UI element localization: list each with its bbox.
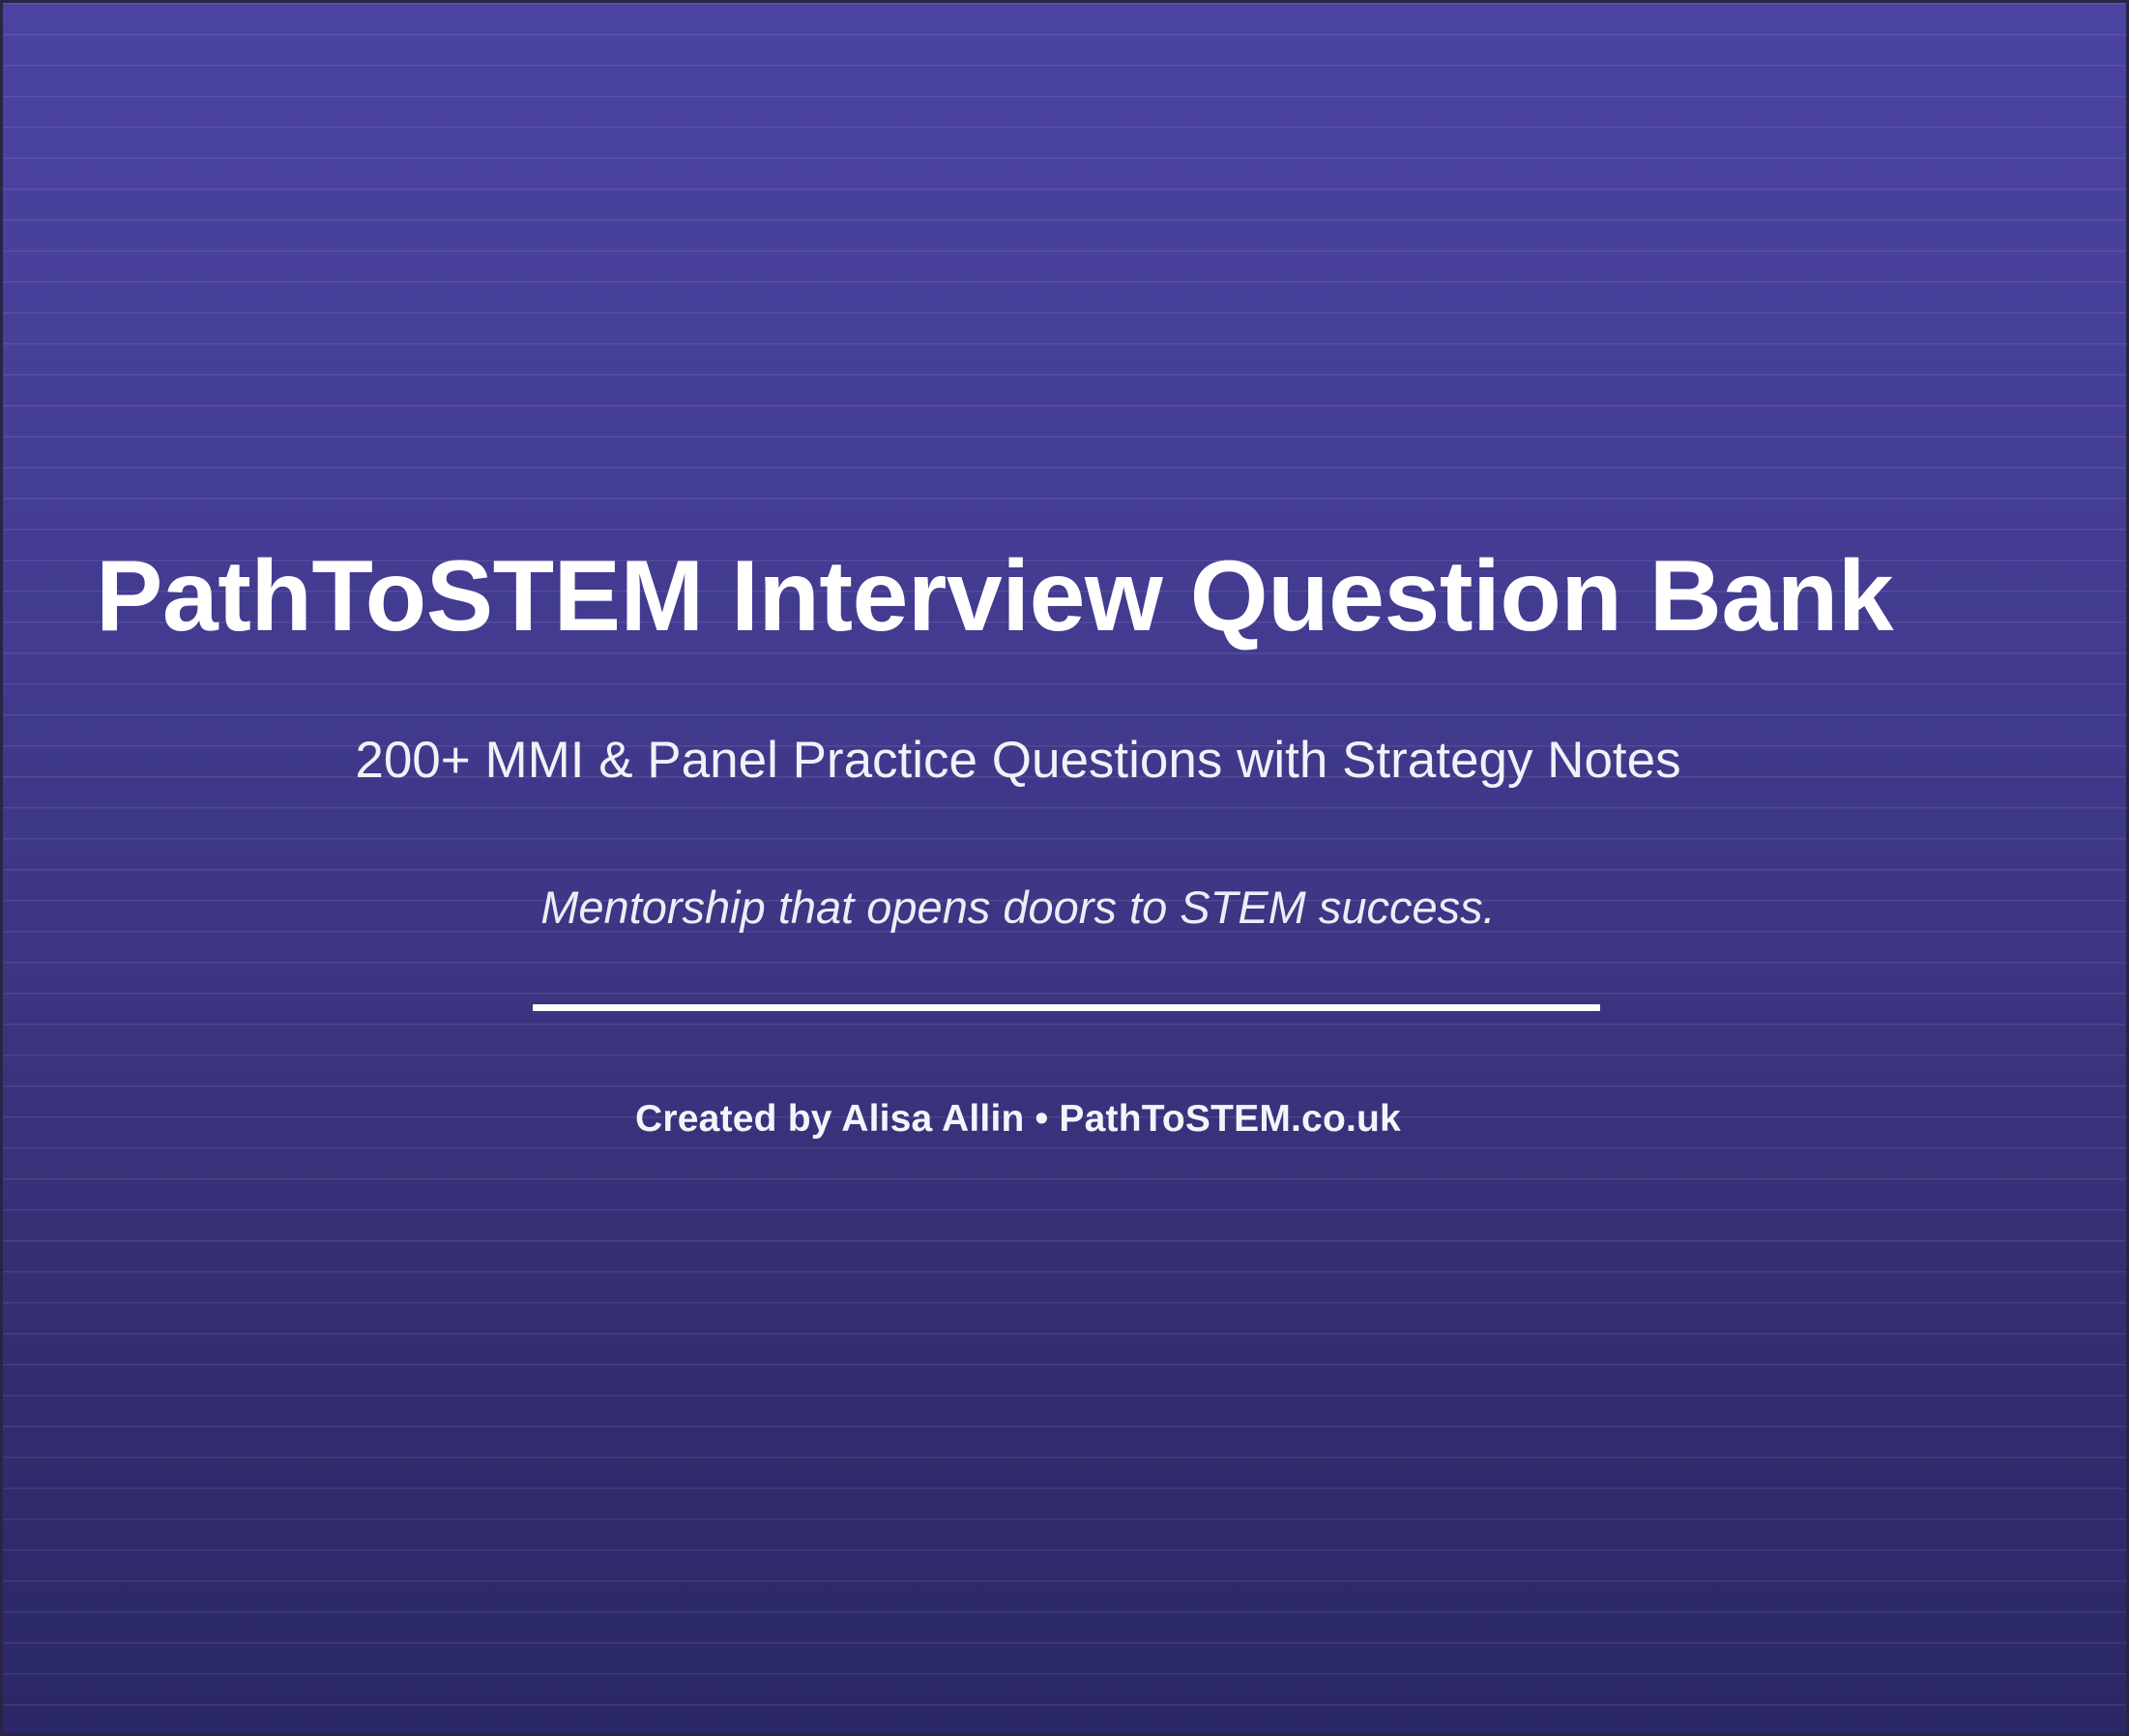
slide-title: PathToSTEM Interview Question Bank xyxy=(96,540,2039,652)
background-vignette xyxy=(3,3,2126,1733)
slide-byline: Created by Alisa Allin • PathToSTEM.co.u… xyxy=(3,1097,2033,1143)
divider-rule xyxy=(533,1004,1600,1011)
title-slide: PathToSTEM Interview Question Bank 200+ … xyxy=(0,0,2129,1736)
slide-tagline: Mentorship that opens doors to STEM succ… xyxy=(3,881,2033,935)
slide-subtitle: 200+ MMI & Panel Practice Questions with… xyxy=(3,730,2033,792)
background-stripe-pattern xyxy=(3,3,2126,1733)
